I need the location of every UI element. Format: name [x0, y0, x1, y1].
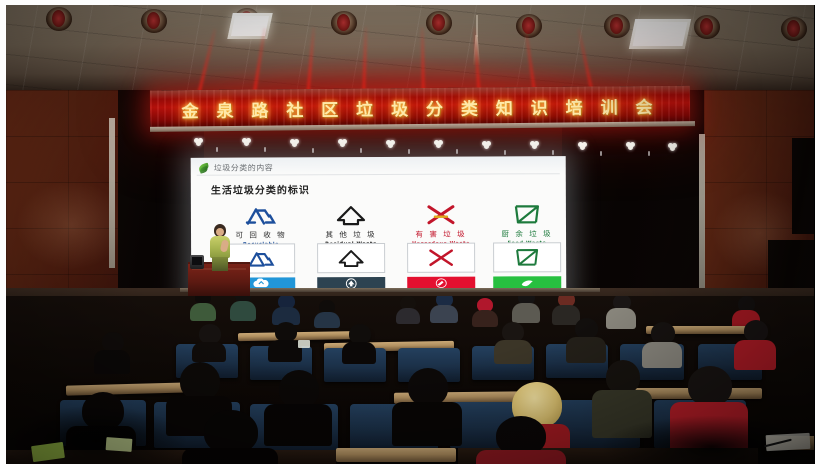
slide-category-food: 厨 余 垃 圾 Food Waste — [481, 201, 566, 246]
led-tick — [264, 147, 266, 152]
category-label-zh: 有 害 垃 圾 — [395, 229, 487, 240]
ceiling-downlight — [46, 7, 72, 31]
audience-area — [6, 296, 814, 464]
audience-member — [230, 296, 256, 320]
ceiling-downlight — [141, 9, 167, 33]
confidence-monitor — [190, 255, 204, 269]
flower-decoration-row — [186, 136, 686, 154]
led-tick — [456, 149, 458, 154]
presenter — [208, 224, 232, 272]
flower-decoration-icon — [386, 140, 395, 148]
audience-head — [102, 332, 124, 352]
flower-decoration-icon — [530, 141, 539, 149]
flower-decoration-icon — [668, 143, 677, 151]
audience-member — [430, 296, 458, 322]
residual-arrow-icon — [305, 202, 397, 228]
presenter-skirt — [212, 257, 228, 271]
fluorescent-light-fixture — [227, 13, 273, 39]
audience-member — [396, 296, 420, 322]
audience-member — [606, 296, 636, 328]
ceiling-downlight — [331, 11, 357, 35]
audience-torso — [430, 305, 458, 323]
flower-decoration-icon — [434, 140, 443, 148]
door-frame-strip — [699, 134, 705, 304]
audience-member — [734, 320, 776, 368]
photo-frame-bottom — [0, 464, 820, 470]
audience-head — [575, 318, 598, 339]
audience-torso — [476, 450, 566, 464]
ceiling-downlight — [426, 11, 452, 35]
flower-decoration-icon — [242, 138, 251, 146]
led-tick — [408, 149, 410, 154]
audience-head — [744, 320, 768, 342]
led-tick — [504, 150, 506, 155]
symbol-box-hazardous — [407, 243, 475, 273]
category-label-zh: 其 他 垃 圾 — [305, 229, 397, 240]
audience-member-front — [182, 410, 278, 464]
desk-row-front — [336, 448, 456, 462]
food-waste-hourglass-icon — [481, 201, 566, 227]
audience-torso — [268, 340, 302, 362]
food-waste-bin-icon — [519, 276, 535, 288]
audience-torso — [396, 308, 420, 324]
audience-head — [606, 360, 640, 394]
slide-header-text: 垃圾分类的内容 — [214, 162, 274, 173]
audience-torso — [314, 312, 340, 328]
audience-head — [279, 370, 319, 408]
slide-title: 生活垃圾分类的标识 — [211, 181, 310, 196]
audience-head — [502, 322, 524, 342]
handout-paper — [766, 433, 811, 451]
symbol-box-residual — [317, 243, 385, 273]
audience-torso — [512, 303, 540, 323]
audience-torso — [494, 340, 532, 364]
flower-decoration-icon — [578, 142, 587, 150]
audience-torso — [392, 402, 462, 446]
audience-member — [494, 322, 532, 362]
presenter-face — [216, 228, 224, 236]
hazardous-cross-icon — [395, 202, 487, 228]
wall-shadow-block — [792, 138, 814, 234]
flower-decoration-icon — [482, 141, 491, 149]
symbol-box-food — [493, 242, 561, 272]
photo-frame-left — [0, 0, 6, 470]
led-tick — [312, 148, 314, 153]
audience-head — [688, 366, 732, 406]
audience-member — [268, 322, 302, 358]
audience-head — [199, 324, 221, 344]
ceiling-downlight — [781, 17, 807, 41]
audience-head — [180, 362, 220, 400]
handout-paper — [298, 340, 310, 348]
flower-decoration-icon — [338, 139, 347, 147]
audience-torso — [192, 342, 226, 362]
led-tick — [600, 151, 602, 156]
audience-head — [408, 368, 448, 406]
led-banner-text: 金 泉 路 社 区 垃 圾 分 类 知 识 培 训 会 — [181, 92, 658, 121]
flower-decoration-icon — [194, 138, 203, 146]
photo-frame-top — [0, 0, 820, 5]
audience-head — [651, 322, 675, 344]
ceiling-downlight — [694, 15, 720, 39]
slide-header: 垃圾分类的内容 — [199, 162, 274, 173]
flower-decoration-icon — [290, 139, 299, 147]
audience-member-front — [476, 416, 566, 464]
flower-decoration-icon — [626, 142, 635, 150]
photo-scene: 金 泉 路 社 区 垃 圾 分 类 知 识 培 训 会 垃圾分类的内容 — [0, 0, 820, 470]
ceiling-downlight — [516, 14, 542, 38]
hazardous-bin-icon — [433, 277, 449, 289]
audience-torso — [606, 308, 636, 329]
leaf-icon — [199, 163, 210, 173]
audience-member — [566, 318, 606, 362]
audience-member — [314, 300, 340, 326]
door-frame-strip — [109, 118, 115, 268]
ceiling-downlight — [604, 14, 630, 38]
slide-category-hazardous: 有 害 垃 圾 Hazardous Waste — [395, 202, 487, 247]
slide-header-divider — [197, 173, 560, 176]
audience-member — [192, 324, 226, 358]
audience-member — [94, 332, 130, 372]
audience-torso — [94, 350, 130, 374]
led-tick — [552, 150, 554, 155]
slide-category-residual: 其 他 垃 圾 Residual Waste — [305, 202, 397, 247]
audience-member — [272, 296, 300, 324]
fluorescent-light-fixture — [629, 19, 691, 49]
audience-member — [512, 296, 540, 322]
category-label-zh: 厨 余 垃 圾 — [481, 228, 566, 239]
audience-member — [190, 296, 216, 320]
audience-torso — [230, 301, 256, 321]
audience-head — [349, 324, 371, 344]
led-tick — [360, 148, 362, 153]
audience-member — [342, 324, 376, 360]
handout-paper — [106, 437, 133, 452]
audience-torso — [190, 303, 216, 321]
audience-torso — [342, 342, 376, 364]
photo-frame-right — [815, 0, 820, 470]
led-tick — [216, 147, 218, 152]
led-tick — [648, 151, 650, 156]
audience-member — [392, 368, 462, 440]
audience-head — [275, 322, 297, 342]
ceiling — [6, 5, 814, 93]
audience-torso — [182, 448, 278, 464]
